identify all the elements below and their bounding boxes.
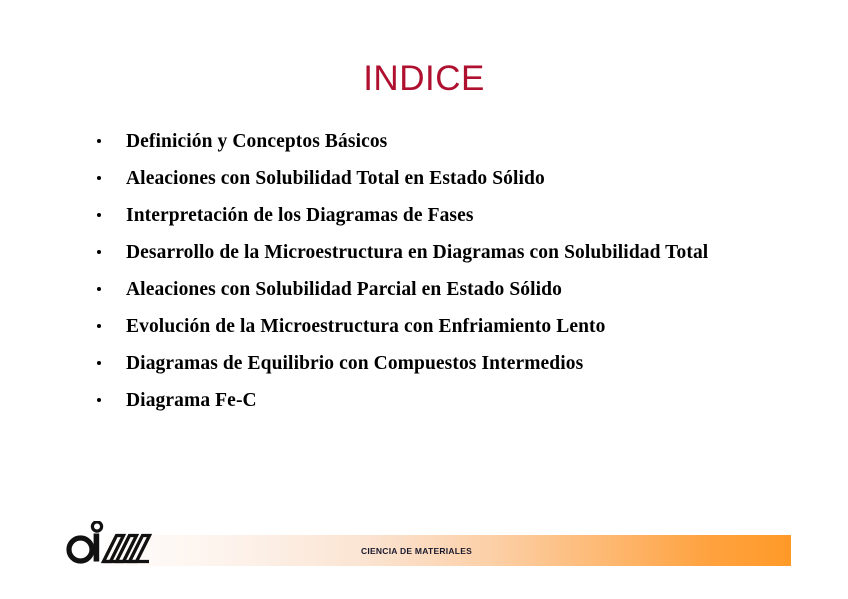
list-item: Desarrollo de la Microestructura en Diag…: [92, 239, 726, 267]
list-item-label: Diagrama Fe-C: [126, 387, 792, 415]
bullet-dot-icon: [97, 324, 101, 328]
dim-logo-icon: [62, 521, 158, 571]
bullet-dot-icon: [97, 250, 101, 254]
bullet-dot-icon: [97, 287, 101, 291]
list-item: Evolución de la Microestructura con Enfr…: [92, 313, 792, 341]
list-item-label: Interpretación de los Diagramas de Fases: [126, 202, 792, 230]
footer-label: CIENCIA DE MATERIALES: [361, 546, 472, 556]
index-bullet-list: Definición y Conceptos Básicos Aleacione…: [92, 128, 792, 424]
list-item: Diagrama Fe-C: [92, 387, 792, 415]
page-title: INDICE: [0, 58, 848, 100]
list-item-label: Definición y Conceptos Básicos: [126, 128, 792, 156]
bullet-dot-icon: [97, 139, 101, 143]
slide-canvas: INDICE Definición y Conceptos Básicos Al…: [0, 0, 848, 599]
bullet-dot-icon: [97, 176, 101, 180]
bullet-dot-icon: [97, 213, 101, 217]
list-item-label: Aleaciones con Solubilidad Total en Esta…: [126, 165, 792, 193]
list-item-label: Evolución de la Microestructura con Enfr…: [126, 313, 792, 341]
list-item-label: Aleaciones con Solubilidad Parcial en Es…: [126, 276, 792, 304]
bullet-dot-icon: [97, 398, 101, 402]
list-item: Interpretación de los Diagramas de Fases: [92, 202, 792, 230]
list-item: Definición y Conceptos Básicos: [92, 128, 792, 156]
list-item-label: Diagramas de Equilibrio con Compuestos I…: [126, 350, 792, 378]
bullet-dot-icon: [97, 361, 101, 365]
list-item: Aleaciones con Solubilidad Parcial en Es…: [92, 276, 792, 304]
list-item: Diagramas de Equilibrio con Compuestos I…: [92, 350, 792, 378]
list-item-label: Desarrollo de la Microestructura en Diag…: [126, 239, 726, 267]
list-item: Aleaciones con Solubilidad Total en Esta…: [92, 165, 792, 193]
